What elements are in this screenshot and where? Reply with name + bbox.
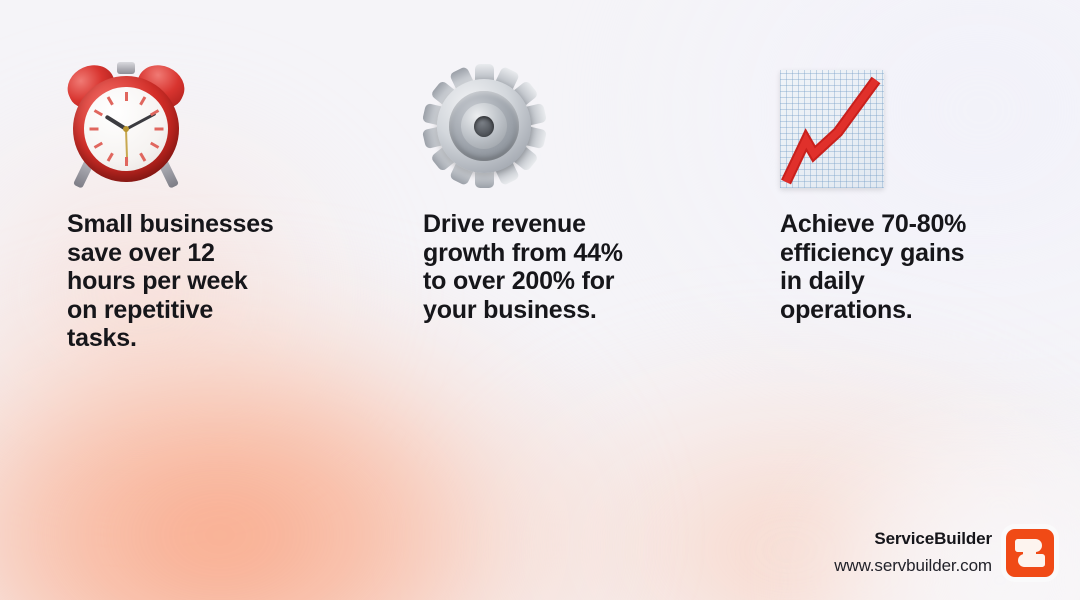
growth-chart-icon xyxy=(780,70,884,188)
servicebuilder-logo[interactable] xyxy=(1006,529,1054,577)
clock-tick xyxy=(106,96,113,105)
clock-knob xyxy=(117,62,135,74)
clock-tick xyxy=(125,157,128,166)
alarm-clock-icon xyxy=(67,60,185,188)
clock-tick xyxy=(93,142,102,149)
brand-text: ServiceBuilder www.servbuilder.com xyxy=(834,528,992,578)
logo-bar-bottom xyxy=(1018,554,1045,567)
clock-tick xyxy=(139,152,146,161)
clock-tick xyxy=(93,109,102,116)
clock-body xyxy=(73,76,179,182)
clock-tick xyxy=(125,92,128,101)
clock-tick xyxy=(139,96,146,105)
benefit-column-1: Small businesses save over 12 hours per … xyxy=(67,56,377,353)
icon-slot-3 xyxy=(780,56,1030,188)
benefit-text-3: Achieve 70-80% efficiency gains in daily… xyxy=(780,210,1030,324)
clock-tick xyxy=(89,128,98,131)
gear-icon xyxy=(423,64,545,188)
benefit-columns: Small businesses save over 12 hours per … xyxy=(0,0,1080,600)
clock-tick xyxy=(106,152,113,161)
clock-tick xyxy=(154,128,163,131)
chart-trend-line xyxy=(780,70,884,188)
infographic-canvas: Small businesses save over 12 hours per … xyxy=(0,0,1080,600)
benefit-text-1: Small businesses save over 12 hours per … xyxy=(67,210,377,353)
benefit-text-2: Drive revenue growth from 44% to over 20… xyxy=(423,210,723,324)
clock-center-pin xyxy=(123,126,129,132)
icon-slot-2 xyxy=(423,56,723,188)
brand-name: ServiceBuilder xyxy=(834,528,992,550)
icon-slot-1 xyxy=(67,56,377,188)
clock-face xyxy=(84,87,168,171)
clock-tick xyxy=(149,142,158,149)
brand-block[interactable]: ServiceBuilder www.servbuilder.com xyxy=(834,528,1054,578)
gear-center-hole xyxy=(474,116,494,137)
brand-url[interactable]: www.servbuilder.com xyxy=(834,554,992,578)
benefit-column-2: Drive revenue growth from 44% to over 20… xyxy=(423,56,723,324)
benefit-column-3: Achieve 70-80% efficiency gains in daily… xyxy=(780,56,1030,324)
